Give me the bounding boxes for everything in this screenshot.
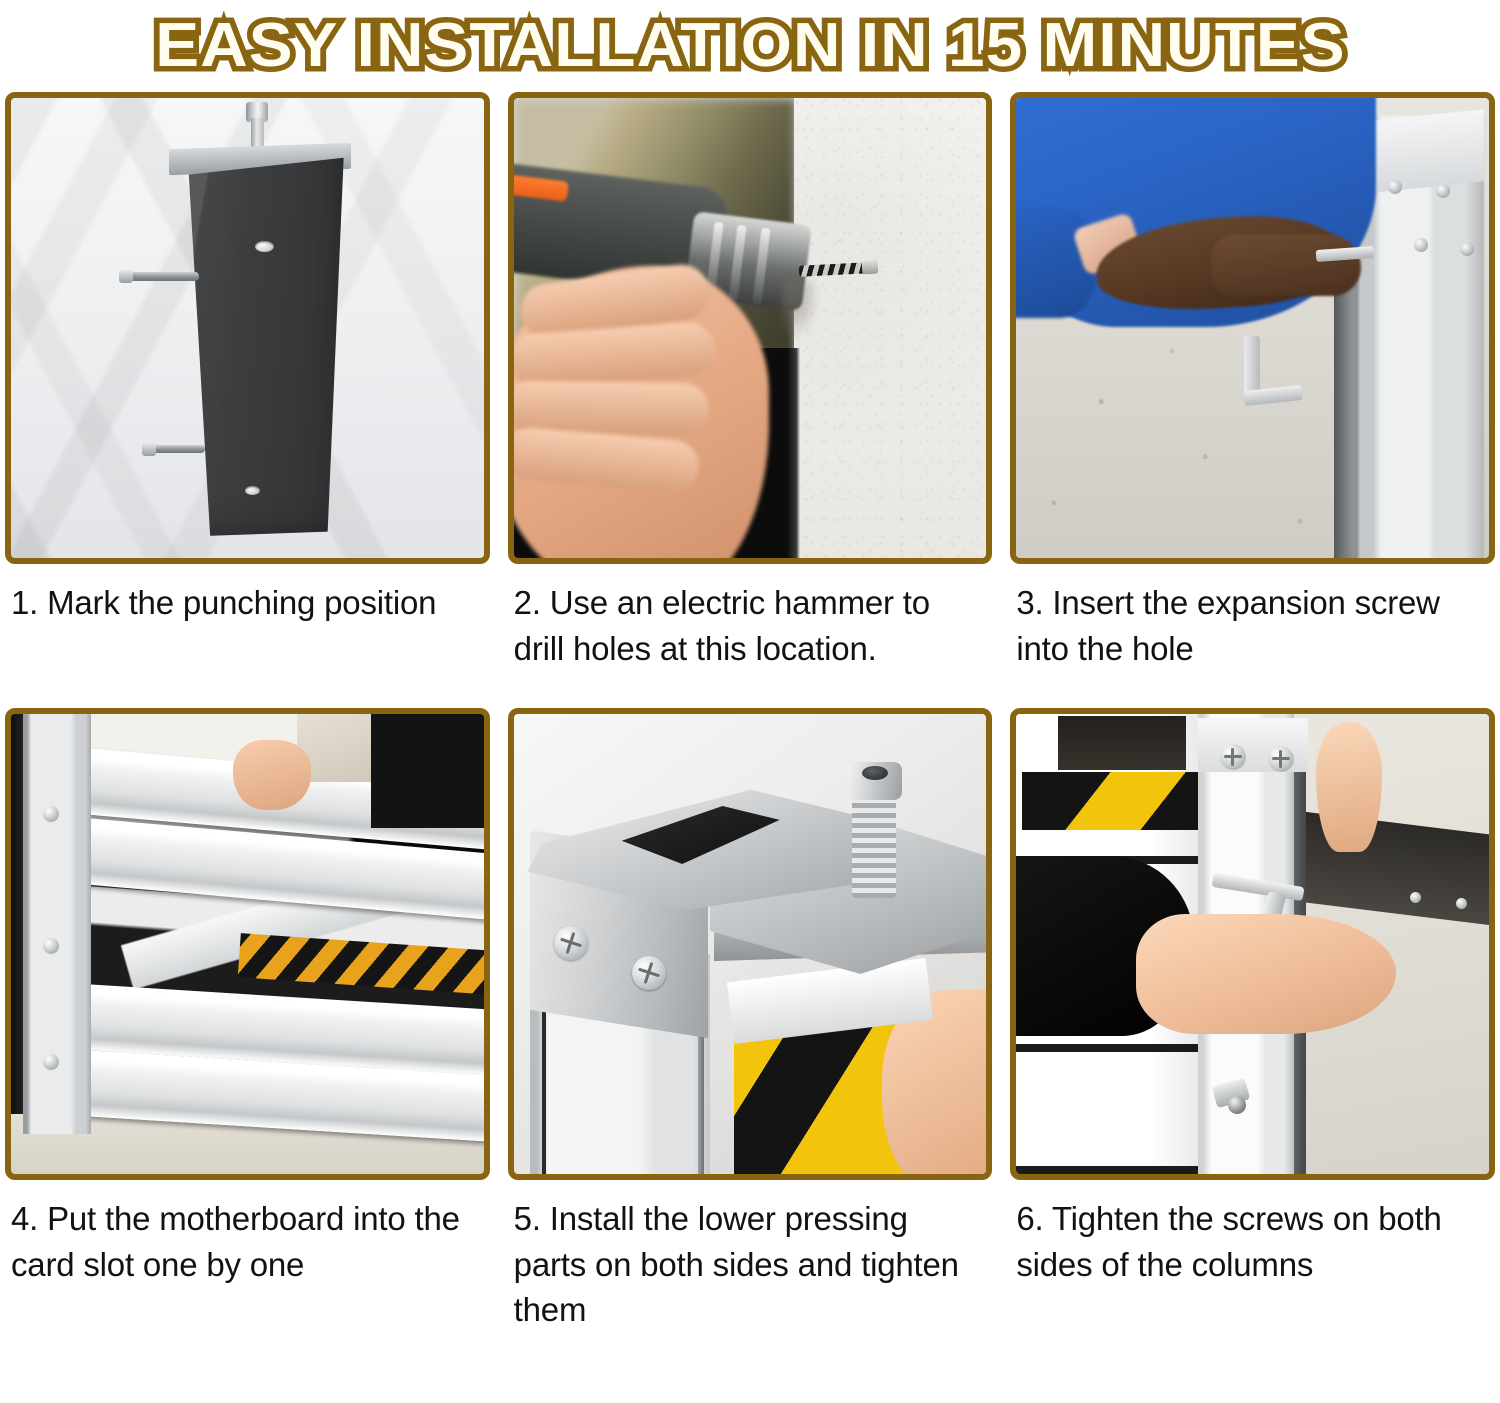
barrier-dark-inset: [1058, 716, 1186, 770]
bracket-screw-2: [632, 956, 666, 990]
right-hand-thumb: [1316, 722, 1382, 852]
step-card-2: 2. Use an electric hammer to drill holes…: [508, 92, 993, 708]
thumb-screw-hole: [862, 766, 888, 780]
finger-3: [514, 380, 709, 436]
alignment-rod-cap-upper: [119, 270, 133, 283]
step-2-caption: 2. Use an electric hammer to drill holes…: [508, 564, 993, 708]
step-5-photo: [514, 714, 987, 1174]
step-5-caption: 5. Install the lower pressing parts on b…: [508, 1180, 993, 1346]
hazard-stripe-tape: [1022, 772, 1198, 830]
drill-bit-tip: [861, 260, 878, 275]
installer-fingers: [1211, 234, 1361, 296]
installation-steps-grid: 1. Mark the punching position: [0, 92, 1500, 1346]
wall-edge: [788, 348, 800, 558]
bracket-screw-1: [554, 926, 588, 960]
barrier-slat-3: [1016, 1166, 1210, 1174]
step-card-3: 3. Insert the expansion screw into the h…: [1010, 92, 1495, 708]
step-3-photo: [1016, 98, 1489, 558]
column-screw-top: [43, 806, 59, 822]
step-1-photo: [11, 98, 484, 558]
column-screw-bottom: [43, 1054, 59, 1070]
step-2-photo: [514, 98, 987, 558]
step-2-photo-frame: [508, 92, 993, 564]
barrier-slat-2: [1016, 1044, 1210, 1052]
threaded-stud: [251, 118, 264, 148]
step-card-5: 5. Install the lower pressing parts on b…: [508, 708, 993, 1346]
marking-hole-lower: [245, 486, 260, 495]
step-4-photo-frame: [5, 708, 490, 1180]
drilling-dust: [782, 280, 820, 340]
step-1-photo-frame: [5, 92, 490, 564]
step-card-4: 4. Put the motherboard into the card slo…: [5, 708, 490, 1346]
column-screw-middle: [43, 938, 59, 954]
step-6-caption: 6. Tighten the screws on both sides of t…: [1010, 1180, 1495, 1346]
white-textured-wall: [794, 98, 987, 558]
step-1-caption: 1. Mark the punching position: [5, 564, 490, 708]
steps-row-2: 4. Put the motherboard into the card slo…: [5, 708, 1495, 1346]
marking-hole-upper: [255, 241, 274, 252]
alignment-rod-cap-lower: [142, 443, 156, 456]
page-title: EASY INSTALLATION IN 15 MINUTES: [155, 15, 1345, 77]
title-banner: EASY INSTALLATION IN 15 MINUTES: [0, 0, 1500, 92]
installer-hand: [233, 740, 311, 810]
step-3-photo-frame: [1010, 92, 1495, 564]
step-4-caption: 4. Put the motherboard into the card slo…: [5, 1180, 490, 1346]
steps-row-1: 1. Mark the punching position: [5, 92, 1495, 708]
dark-clothing: [371, 714, 484, 828]
step-6-photo: [1016, 714, 1489, 1174]
step-card-1: 1. Mark the punching position: [5, 92, 490, 708]
card-slot-column: [23, 714, 91, 1134]
step-4-photo: [11, 714, 484, 1174]
step-6-photo-frame: [1010, 708, 1495, 1180]
step-5-photo-frame: [508, 708, 993, 1180]
left-hand: [1136, 914, 1396, 1034]
step-3-caption: 3. Insert the expansion screw into the h…: [1010, 564, 1495, 708]
step-card-6: 6. Tighten the screws on both sides of t…: [1010, 708, 1495, 1346]
